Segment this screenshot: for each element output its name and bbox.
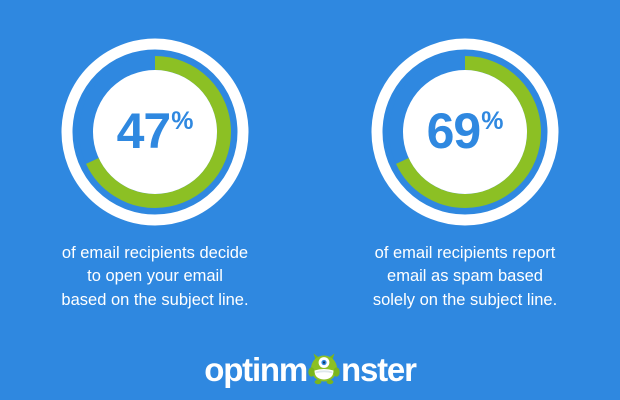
brand-text-after: nster xyxy=(341,353,416,386)
donut-inner-disc xyxy=(93,70,217,194)
donut-chart-47: 47 % xyxy=(61,38,249,226)
optinmonster-logo: optinm xyxy=(204,352,415,386)
donut-svg-69 xyxy=(371,38,559,226)
caption-line-3: solely on the subject line. xyxy=(325,289,605,312)
donut-chart-69: 69 % xyxy=(371,38,559,226)
stats-row: 47 % of email recipients decide to open … xyxy=(0,0,620,330)
brand-text-before: optinm xyxy=(204,353,307,386)
stat-block-47: 47 % of email recipients decide to open … xyxy=(0,0,310,312)
infographic-canvas: 47 % of email recipients decide to open … xyxy=(0,0,620,400)
caption-line-2: email as spam based xyxy=(325,265,605,288)
caption-line-1: of email recipients decide xyxy=(15,242,295,265)
caption-line-1: of email recipients report xyxy=(325,242,605,265)
brand-footer: optinm xyxy=(0,352,620,386)
donut-inner-disc xyxy=(403,70,527,194)
caption-line-2: to open your email xyxy=(15,265,295,288)
monster-icon xyxy=(307,351,341,385)
stat-caption-69: of email recipients report email as spam… xyxy=(325,242,605,312)
stat-caption-47: of email recipients decide to open your … xyxy=(15,242,295,312)
donut-svg-47 xyxy=(61,38,249,226)
stat-block-69: 69 % of email recipients report email as… xyxy=(310,0,620,312)
caption-line-3: based on the subject line. xyxy=(15,289,295,312)
